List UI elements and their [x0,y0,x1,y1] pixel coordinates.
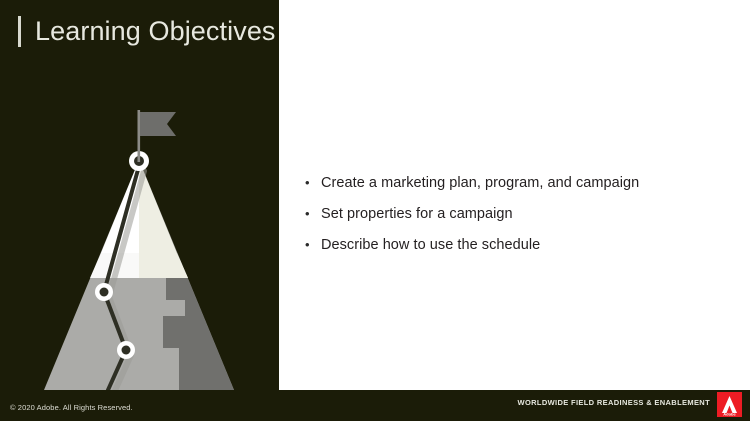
footer-branding: WORLDWIDE FIELD READINESS & ENABLEMENT A… [518,392,742,417]
list-item-label: Set properties for a campaign [321,203,513,225]
waypoint-dot-3 [122,346,131,355]
summit-flag-icon [140,112,176,136]
bullet-point-icon: • [305,234,321,256]
bullet-point-icon: • [305,203,321,225]
list-item: • Set properties for a campaign [305,203,725,225]
title-accent-bar [18,16,21,47]
list-item: • Describe how to use the schedule [305,234,725,256]
team-name-label: WORLDWIDE FIELD READINESS & ENABLEMENT [518,398,710,412]
copyright-notice: © 2020 Adobe. All Rights Reserved. [10,403,133,412]
bullet-point-icon: • [305,172,321,194]
svg-text:Adobe: Adobe [723,412,736,417]
mountain-illustration [0,0,279,390]
slide-canvas: Learning Objectives • Create a marketing… [0,0,750,421]
title-label: Learning Objectives [35,18,276,45]
objectives-list: • Create a marketing plan, program, and … [305,172,725,265]
list-item-label: Describe how to use the schedule [321,234,540,256]
flag-pole [138,110,141,162]
snow-ledge-shade [139,253,188,278]
adobe-logo-icon: Adobe [717,392,742,417]
list-item-label: Create a marketing plan, program, and ca… [321,172,639,194]
waypoint-dot-2 [100,288,109,297]
page-title: Learning Objectives [18,12,276,50]
list-item: • Create a marketing plan, program, and … [305,172,725,194]
